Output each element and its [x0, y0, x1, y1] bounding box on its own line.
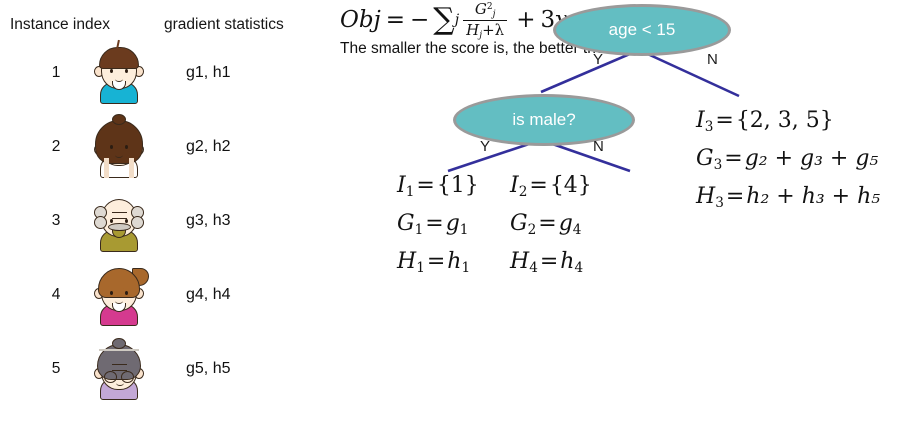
- leaf3-hessian-sum: H3=h₂ + h₃ + h₅: [696, 181, 880, 219]
- column-header-gradient-statistics: gradient statistics: [164, 16, 284, 34]
- old-man-avatar: [88, 190, 150, 252]
- table-row: 3 g3, h3: [0, 186, 340, 256]
- edge-label-root-yes: Y: [593, 51, 603, 68]
- edge-root-no: [639, 50, 739, 96]
- decision-tree-diagram: age < 15 is male? Y N Y N I1={1} G1=g1 H…: [340, 0, 920, 421]
- row-gradient-statistics: g3, h3: [186, 186, 230, 256]
- leaf3-gradient-sum: G3=g₂ + g₃ + g₅: [696, 143, 880, 181]
- leaf-stats-2: I2={4} G2=g4 H4=h4: [510, 170, 592, 283]
- row-index: 5: [38, 334, 74, 404]
- girl-ponytail-avatar: [88, 264, 150, 326]
- leaf2-gradient-sum: G2=g4: [510, 208, 592, 246]
- tree-node-is-male-label: is male?: [512, 110, 575, 130]
- boy-avatar: [88, 42, 150, 104]
- leaf-stats-1: I1={1} G1=g1 H1=h1: [397, 170, 479, 283]
- row-index: 4: [38, 260, 74, 330]
- table-row: 4 g4, h4: [0, 260, 340, 330]
- instance-table: Instance index gradient statistics 1 g1,…: [0, 0, 340, 421]
- row-index: 3: [38, 186, 74, 256]
- table-row: 2 g2, h2: [0, 112, 340, 182]
- edge-label-child-no: N: [593, 138, 604, 155]
- row-gradient-statistics: g2, h2: [186, 112, 230, 182]
- girl-long-hair-avatar: [88, 116, 150, 178]
- leaf3-instance-set: I3={2, 3, 5}: [696, 105, 880, 143]
- row-gradient-statistics: g1, h1: [186, 38, 230, 108]
- column-header-instance-index: Instance index: [10, 16, 110, 34]
- leaf1-gradient-sum: G1=g1: [397, 208, 479, 246]
- leaf-stats-3: I3={2, 3, 5} G3=g₂ + g₃ + g₅ H3=h₂ + h₃ …: [696, 105, 880, 218]
- tree-node-root-label: age < 15: [609, 20, 676, 40]
- table-row: 1 g1, h1: [0, 38, 340, 108]
- row-gradient-statistics: g5, h5: [186, 334, 230, 404]
- leaf1-instance-set: I1={1}: [397, 170, 479, 208]
- table-row: 5 g5, h5: [0, 334, 340, 404]
- old-woman-avatar: [88, 338, 150, 400]
- leaf2-instance-set: I2={4}: [510, 170, 592, 208]
- row-index: 2: [38, 112, 74, 182]
- row-index: 1: [38, 38, 74, 108]
- leaf2-hessian-sum: H4=h4: [510, 246, 592, 284]
- edge-label-child-yes: Y: [480, 138, 490, 155]
- tree-node-root[interactable]: age < 15: [553, 4, 731, 56]
- leaf1-hessian-sum: H1=h1: [397, 246, 479, 284]
- row-gradient-statistics: g4, h4: [186, 260, 230, 330]
- edge-root-yes: [541, 50, 639, 92]
- edge-label-root-no: N: [707, 51, 718, 68]
